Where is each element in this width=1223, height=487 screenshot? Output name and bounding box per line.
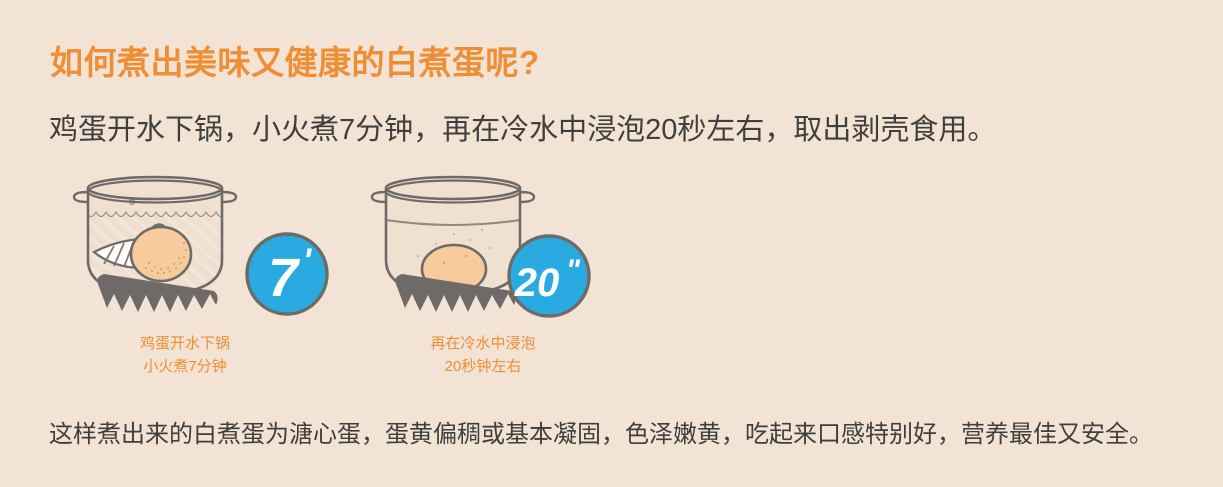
steps-container: 7 ' 鸡蛋开水下锅 小火煮7分钟 <box>0 168 1223 388</box>
badge-value-text: 20 <box>514 261 560 305</box>
lead-paragraph: 鸡蛋开水下锅，小火煮7分钟，再在冷水中浸泡20秒左右，取出剥壳食用。 <box>49 112 996 148</box>
infographic-page: 如何煮出美味又健康的白煮蛋呢? 鸡蛋开水下锅，小火煮7分钟，再在冷水中浸泡20秒… <box>0 0 1223 487</box>
step-caption-boil: 鸡蛋开水下锅 小火煮7分钟 <box>60 332 310 379</box>
step-caption-soak: 再在冷水中浸泡 20秒钟左右 <box>358 332 608 379</box>
caption-line-1: 鸡蛋开水下锅 <box>60 332 310 355</box>
badge-unit-text: " <box>566 254 581 287</box>
badge-value-text: 7 <box>268 248 301 308</box>
step-boil: 7 ' 鸡蛋开水下锅 小火煮7分钟 <box>60 168 360 388</box>
duration-badge-7: 7 ' <box>241 228 333 320</box>
page-title: 如何煮出美味又健康的白煮蛋呢? <box>50 43 540 83</box>
step-soak: 20 " 再在冷水中浸泡 20秒钟左右 <box>358 168 658 388</box>
caption-line-2: 20秒钟左右 <box>358 355 608 378</box>
caption-line-1: 再在冷水中浸泡 <box>358 332 608 355</box>
caption-line-2: 小火煮7分钟 <box>60 355 310 378</box>
duration-badge-20: 20 " <box>503 230 595 322</box>
footer-paragraph: 这样煮出来的白煮蛋为溏心蛋，蛋黄偏稠或基本凝固，色泽嫩黄，吃起来口感特别好，营养… <box>49 419 1153 450</box>
